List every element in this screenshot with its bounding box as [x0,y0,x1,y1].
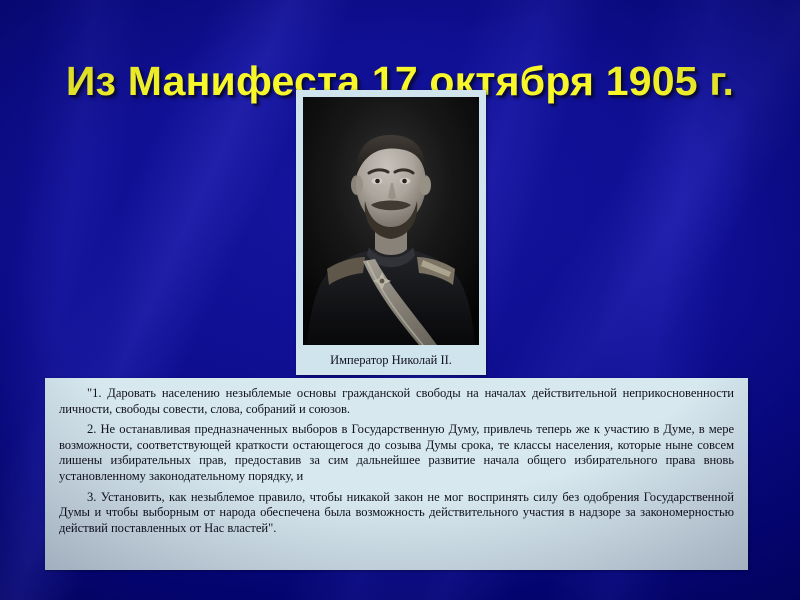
quote-paragraph-3: 3. Установить, как незыблемое правило, ч… [59,490,734,537]
portrait-caption: Император Николай II. [303,345,479,375]
quote-paragraph-1: "1. Даровать населению незыблемые основы… [59,386,734,417]
portrait-card: Император Николай II. [296,90,486,375]
manifesto-quote-panel: "1. Даровать населению незыблемые основы… [45,378,748,570]
nicholas-ii-portrait-illustration [303,97,479,345]
presentation-slide: Из Манифеста 17 октября 1905 г. [0,0,800,600]
quote-paragraph-2: 2. Не останавливая предназначенных выбор… [59,422,734,484]
portrait-photo [303,97,479,345]
